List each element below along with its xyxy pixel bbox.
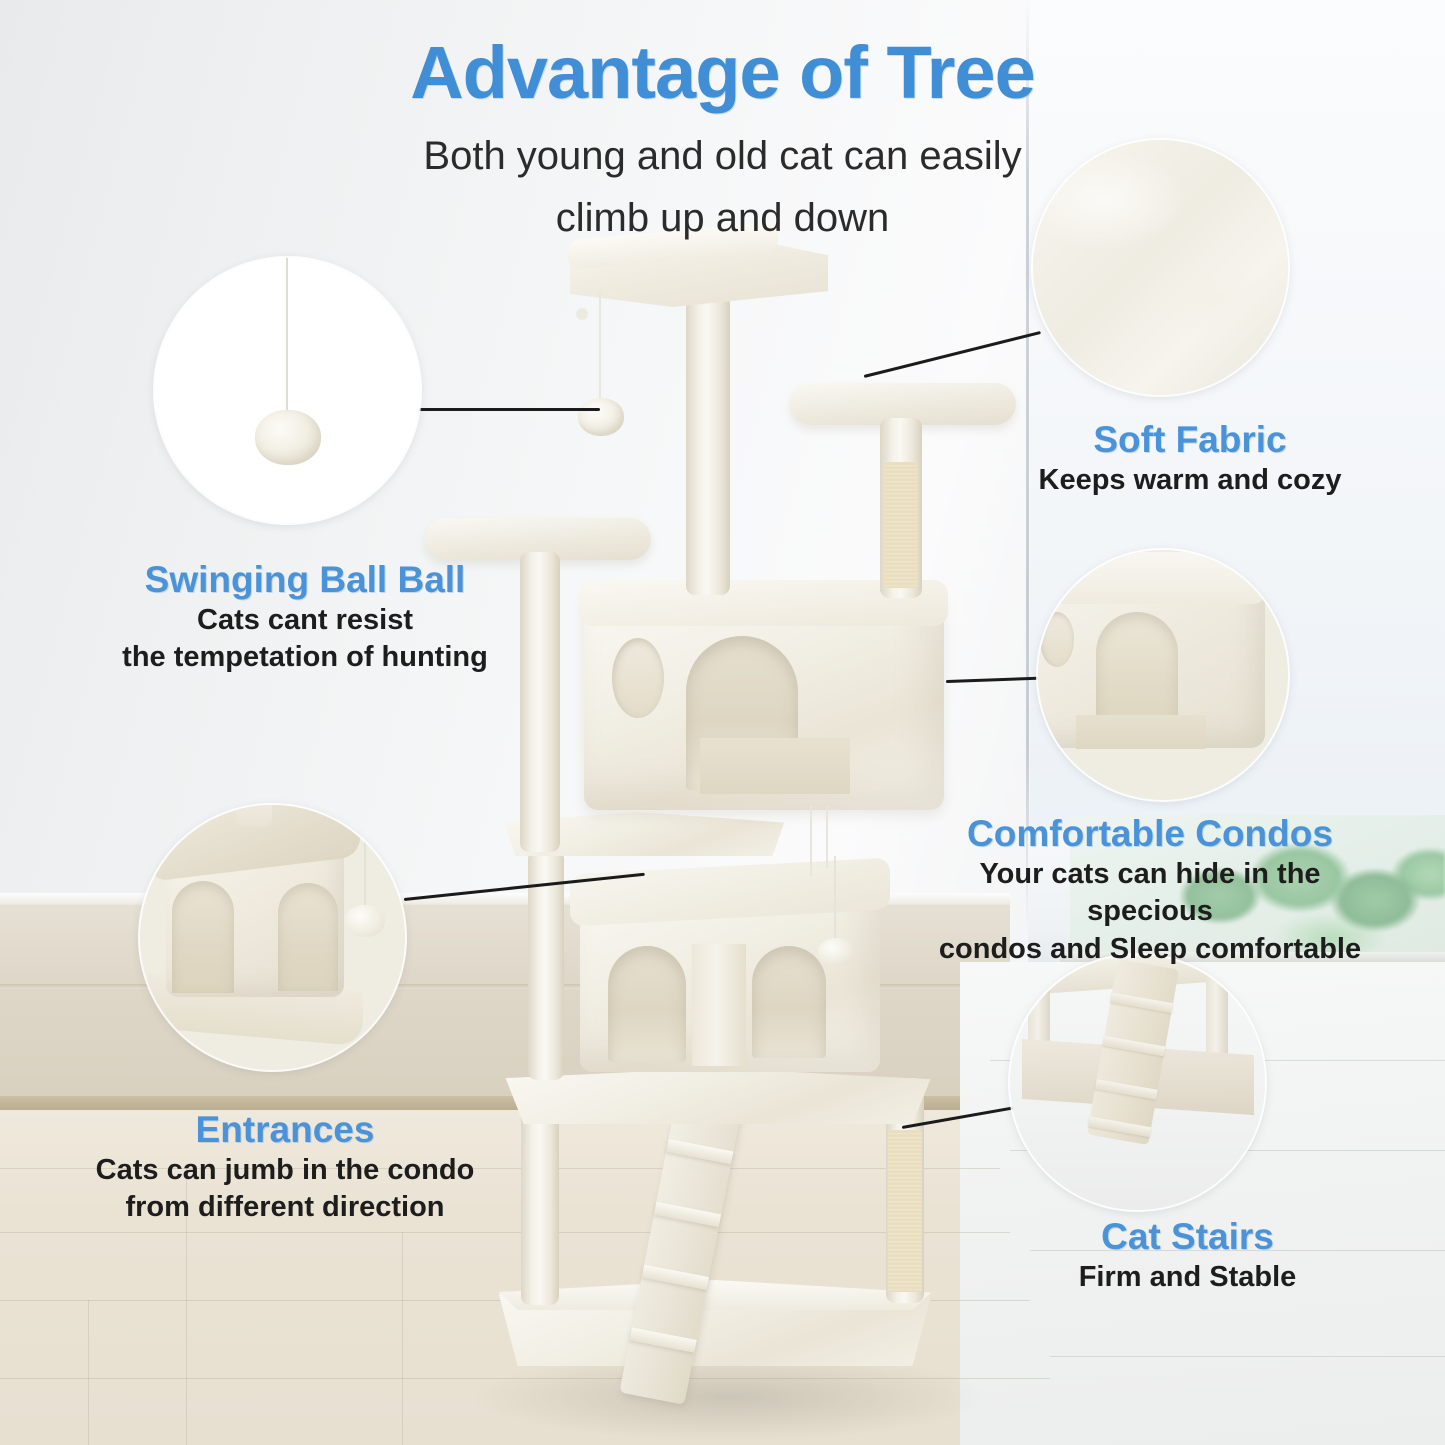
sisal-post-upper bbox=[884, 462, 918, 588]
entrance-top-post bbox=[236, 805, 272, 827]
hanging-string-main bbox=[599, 292, 601, 404]
callout-entrances: Entrances Cats can jumb in the condo fro… bbox=[40, 1108, 530, 1227]
page-title: Advantage of Tree bbox=[0, 30, 1445, 115]
page-subtitle: Both young and old cat can easily climb … bbox=[0, 125, 1445, 249]
callout-title-soft-fabric: Soft Fabric bbox=[975, 418, 1405, 462]
entrance-ball-string bbox=[364, 815, 366, 911]
pompom-string bbox=[286, 258, 288, 418]
condo-roof bbox=[1038, 552, 1265, 604]
center-post bbox=[686, 295, 730, 595]
upper-condo-inner-floor bbox=[700, 738, 850, 794]
callout-desc-entrances-line2: from different direction bbox=[40, 1189, 530, 1227]
callout-desc-entrances-line1: Cats can jumb in the condo bbox=[40, 1152, 530, 1190]
infographic-canvas: Advantage of Tree Both young and old cat… bbox=[0, 0, 1445, 1445]
callout-title-cat-stairs: Cat Stairs bbox=[1000, 1215, 1375, 1259]
page-subtitle-line2: climb up and down bbox=[0, 187, 1445, 249]
condo-oval-window bbox=[1040, 612, 1074, 667]
upper-condo-oval-window bbox=[612, 638, 664, 718]
callout-desc-swinging-ball-line1: Cats cant resist bbox=[45, 602, 565, 640]
callout-title-swinging-ball: Swinging Ball Ball bbox=[45, 558, 565, 602]
callout-desc-cat-stairs-line1: Firm and Stable bbox=[1000, 1259, 1375, 1297]
entrance-hanging-ball bbox=[345, 905, 385, 937]
sisal-post-lower bbox=[888, 1130, 922, 1292]
callout-soft-fabric: Soft Fabric Keeps warm and cozy bbox=[975, 418, 1405, 499]
callout-image-entrances bbox=[140, 805, 405, 1070]
callout-desc-comfortable-condos-line1: Your cats can hide in the specious bbox=[915, 856, 1385, 931]
lower-condo-divider bbox=[692, 944, 746, 1066]
callout-desc-comfortable-condos-line2: condos and Sleep comfortable bbox=[915, 931, 1385, 969]
hanging-ball-lower bbox=[818, 938, 854, 966]
callout-desc-soft-fabric-line1: Keeps warm and cozy bbox=[975, 462, 1405, 500]
callout-comfortable-condos: Comfortable Condos Your cats can hide in… bbox=[915, 812, 1385, 969]
callout-desc-swinging-ball-line2: the tempetation of hunting bbox=[45, 639, 565, 677]
leader-line-swinging-ball bbox=[418, 408, 600, 411]
entrance-arch-right bbox=[278, 883, 338, 991]
callout-title-entrances: Entrances bbox=[40, 1108, 530, 1152]
callout-title-comfortable-condos: Comfortable Condos bbox=[915, 812, 1385, 856]
hanging-string-lower bbox=[834, 856, 836, 942]
callout-image-comfortable-condos bbox=[1038, 550, 1288, 800]
lower-condo-entrance-left bbox=[608, 946, 686, 1062]
pompom-ball bbox=[255, 410, 321, 465]
condo-inner-floor bbox=[1076, 715, 1206, 749]
callout-image-swinging-ball bbox=[155, 258, 420, 523]
entrance-arch-left bbox=[172, 881, 234, 993]
callout-image-cat-stairs bbox=[1010, 955, 1265, 1210]
hanging-ball-main bbox=[578, 398, 624, 436]
callout-cat-stairs: Cat Stairs Firm and Stable bbox=[1000, 1215, 1375, 1296]
callout-swinging-ball: Swinging Ball Ball Cats cant resist the … bbox=[45, 558, 565, 677]
lower-condo-entrance-right bbox=[752, 946, 826, 1058]
page-subtitle-line1: Both young and old cat can easily bbox=[0, 125, 1445, 187]
